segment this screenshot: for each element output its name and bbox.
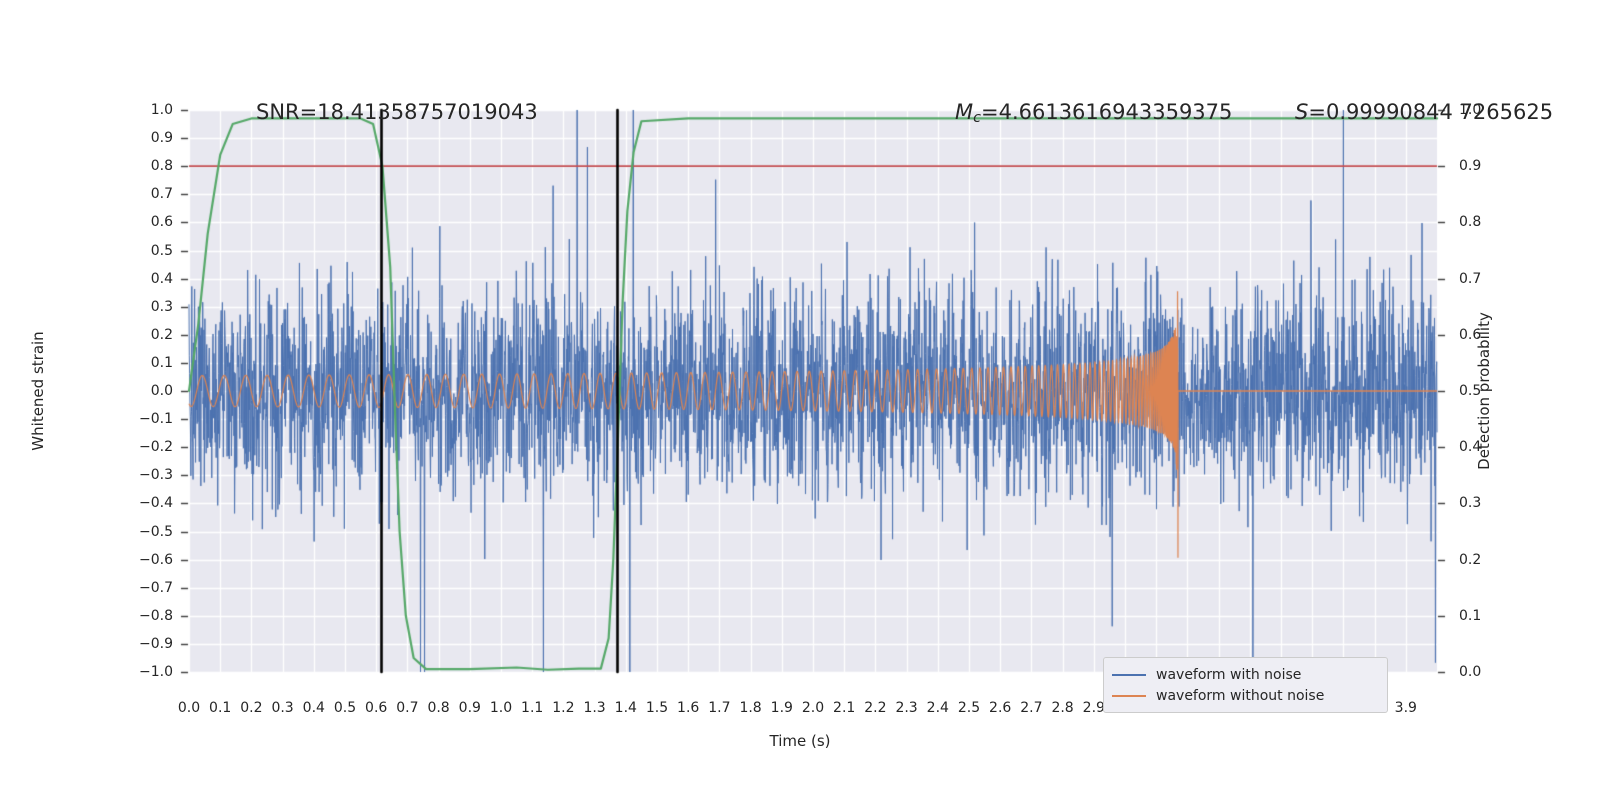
annotation-mc-value: 4.6613616943359375 bbox=[999, 100, 1233, 124]
y-tick-left-11: −0.1 bbox=[133, 411, 173, 427]
legend: waveform with noise waveform without noi… bbox=[1103, 657, 1388, 713]
legend-swatch-orange-icon bbox=[1112, 695, 1146, 697]
annotation-s-value: 0.99990844 7265625 bbox=[1326, 100, 1553, 124]
y-tick-right-3: 0.7 bbox=[1459, 271, 1499, 287]
legend-label-waveform-without-noise: waveform without noise bbox=[1156, 688, 1324, 704]
y-tick-left-4: 0.6 bbox=[133, 214, 173, 230]
y-tick-left-7: 0.3 bbox=[133, 299, 173, 315]
annotation-mc-equals: = bbox=[981, 100, 999, 124]
annotation-s-symbol: S bbox=[1295, 100, 1308, 124]
y-tick-right-5: 0.5 bbox=[1459, 383, 1499, 399]
y-tick-right-6: 0.4 bbox=[1459, 439, 1499, 455]
y-tick-left-6: 0.4 bbox=[133, 271, 173, 287]
annotation-snr: SNR=18.41358757019043 bbox=[256, 100, 538, 124]
y-tick-right-7: 0.3 bbox=[1459, 495, 1499, 511]
annotation-score: S=0.99990844 7265625 bbox=[1295, 100, 1553, 124]
y-tick-left-3: 0.7 bbox=[133, 186, 173, 202]
y-tick-left-13: −0.3 bbox=[133, 467, 173, 483]
y-tick-right-2: 0.8 bbox=[1459, 214, 1499, 230]
y-tick-left-8: 0.2 bbox=[133, 327, 173, 343]
y-tick-left-19: −0.9 bbox=[133, 636, 173, 652]
y-tick-left-12: −0.2 bbox=[133, 439, 173, 455]
y-tick-left-0: 1.0 bbox=[133, 102, 173, 118]
annotation-chirp-mass: Mc=4.6613616943359375 bbox=[955, 100, 1232, 126]
y-tick-left-18: −0.8 bbox=[133, 608, 173, 624]
y-tick-left-20: −1.0 bbox=[133, 664, 173, 680]
y-tick-left-10: 0.0 bbox=[133, 383, 173, 399]
annotation-s-equals: = bbox=[1308, 100, 1326, 124]
y-tick-left-5: 0.5 bbox=[133, 243, 173, 259]
y-tick-right-8: 0.2 bbox=[1459, 552, 1499, 568]
y-tick-right-0: 1.0 bbox=[1459, 102, 1499, 118]
y-tick-left-9: 0.1 bbox=[133, 355, 173, 371]
legend-entry-waveform-with-noise: waveform with noise bbox=[1112, 664, 1379, 685]
legend-label-waveform-with-noise: waveform with noise bbox=[1156, 667, 1301, 683]
annotation-snr-text: SNR=18.41358757019043 bbox=[256, 100, 538, 124]
y-tick-left-16: −0.6 bbox=[133, 552, 173, 568]
y-tick-right-10: 0.0 bbox=[1459, 664, 1499, 680]
y-tick-left-15: −0.5 bbox=[133, 524, 173, 540]
y-tick-right-9: 0.1 bbox=[1459, 608, 1499, 624]
y-tick-left-1: 0.9 bbox=[133, 130, 173, 146]
y-tick-left-2: 0.8 bbox=[133, 158, 173, 174]
x-axis-label: Time (s) bbox=[0, 732, 1600, 750]
y-tick-left-14: −0.4 bbox=[133, 495, 173, 511]
legend-swatch-blue-icon bbox=[1112, 674, 1146, 676]
legend-entry-waveform-without-noise: waveform without noise bbox=[1112, 685, 1379, 706]
figure-canvas-root: stats at each timestep for test data 197… bbox=[0, 0, 1600, 800]
x-tick-39: 3.9 bbox=[1384, 700, 1428, 716]
y-tick-right-1: 0.9 bbox=[1459, 158, 1499, 174]
y-tick-left-17: −0.7 bbox=[133, 580, 173, 596]
y-tick-right-4: 0.6 bbox=[1459, 327, 1499, 343]
y-axis-label-left: Whitened strain bbox=[29, 291, 47, 491]
annotation-mc-symbol: M bbox=[955, 100, 973, 124]
annotation-mc-subscript: c bbox=[973, 110, 981, 126]
